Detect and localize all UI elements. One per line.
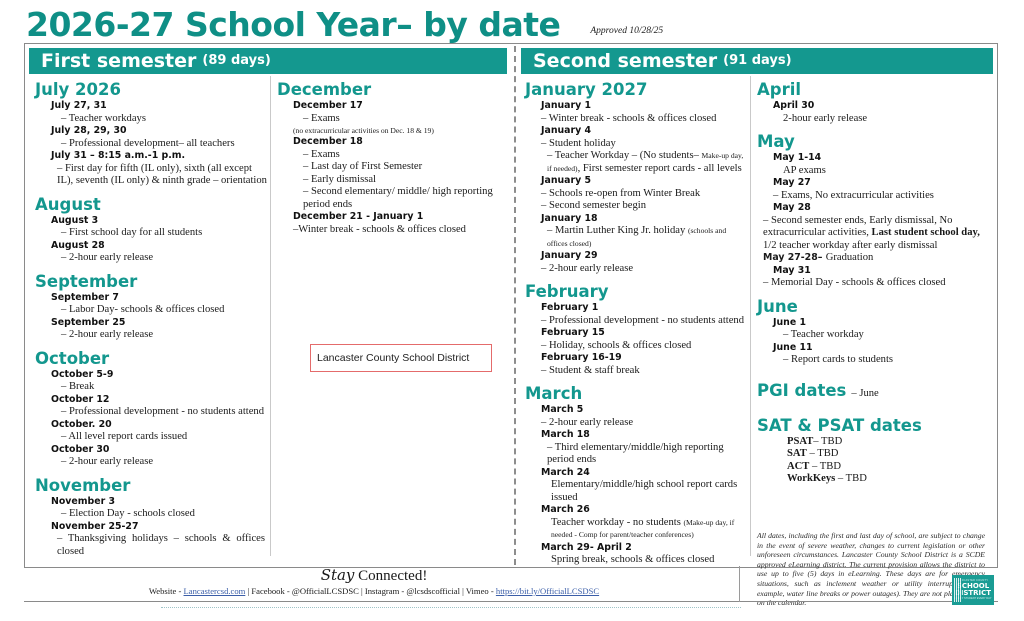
entry-desc: – Holiday, schools & offices closed bbox=[525, 340, 747, 353]
text-pre: Teacher workday - no students bbox=[551, 517, 684, 528]
entry-date: October 30 bbox=[35, 444, 267, 457]
entry-date: February 1 bbox=[525, 302, 747, 315]
entry-desc-graduation: May 27-28– Graduation bbox=[757, 252, 989, 265]
calendar-page: 2026-27 School Year– by date Approved 10… bbox=[0, 0, 1024, 621]
testing-value: – TBD bbox=[838, 473, 867, 484]
first-semester-label: First semester bbox=[41, 52, 196, 71]
testing-name: ACT bbox=[787, 461, 809, 472]
entry-date: December 18 bbox=[277, 136, 505, 149]
entry-desc: – Exams, No extracurricular activities bbox=[757, 190, 989, 203]
entry-date: March 24 bbox=[525, 467, 747, 480]
footer: Stay Connected! Website - Lancastercsd.c… bbox=[24, 566, 998, 602]
district-logo: LANCASTER COUNTY SCHOOL DISTRICT EVERY S… bbox=[952, 575, 994, 605]
entry-desc: – Second elementary/ middle/ high report… bbox=[277, 186, 505, 211]
entry-date: October 12 bbox=[35, 394, 267, 407]
pgi-value: – June bbox=[851, 384, 878, 404]
testing-name: SAT bbox=[787, 448, 807, 459]
entry-desc-mlk: – Martin Luther King Jr. holiday (school… bbox=[525, 225, 747, 250]
footer-vertical-rule bbox=[739, 566, 740, 602]
testing-heading: SAT & PSAT dates bbox=[757, 416, 989, 436]
entry-date: January 29 bbox=[525, 250, 747, 263]
entry-date: July 27, 31 bbox=[35, 100, 267, 113]
testing-name: WorkKeys bbox=[787, 473, 835, 484]
entry-desc-may28: – Second semester ends, Early dismissal,… bbox=[757, 215, 989, 253]
entry-date: September 7 bbox=[35, 292, 267, 305]
text-rest: Graduation bbox=[826, 252, 874, 263]
vimeo-link[interactable]: https://bit.ly/OfficialLCSDSC bbox=[496, 586, 599, 596]
entry-note: (no extracurricular activities on Dec. 1… bbox=[277, 125, 505, 136]
entry-date: July 28, 29, 30 bbox=[35, 125, 267, 138]
text-pre: – Teacher Workday – (No students– bbox=[547, 150, 702, 161]
month-heading-december: December bbox=[277, 80, 505, 100]
district-name-label: Lancaster County School District bbox=[317, 352, 469, 364]
entry-date: February 15 bbox=[525, 327, 747, 340]
calendar-frame: First semester (89 days) Second semester… bbox=[24, 43, 998, 568]
entry-date: August 3 bbox=[35, 215, 267, 228]
entry-desc: – Memorial Day - schools & offices close… bbox=[757, 277, 989, 290]
entry-desc: – 2-hour early release bbox=[35, 252, 267, 265]
entry-date: April 30 bbox=[757, 100, 989, 113]
second-semester-label: Second semester bbox=[533, 52, 717, 71]
entry-desc: – Teacher workday bbox=[757, 329, 989, 342]
entry-desc: – Schools re-open from Winter Break bbox=[525, 188, 747, 201]
entry-date: October 5-9 bbox=[35, 369, 267, 382]
month-heading-july: July 2026 bbox=[35, 80, 267, 100]
testing-row: ACT – TBD bbox=[771, 461, 989, 474]
entry-desc: –Winter break - schools & offices closed bbox=[277, 224, 505, 237]
entry-desc: – Exams bbox=[277, 149, 505, 162]
entry-desc: – Early dismissal bbox=[277, 174, 505, 187]
testing-row: SAT – TBD bbox=[771, 448, 989, 461]
testing-value: – TBD bbox=[809, 448, 838, 459]
entry-date: May 27 bbox=[757, 177, 989, 190]
month-heading-september: September bbox=[35, 272, 267, 292]
semester-divider bbox=[514, 46, 516, 565]
entry-date: January 18 bbox=[525, 213, 747, 226]
entry-date: March 5 bbox=[525, 404, 747, 417]
month-heading-may: May bbox=[757, 132, 989, 152]
entry-date: November 25-27 bbox=[35, 521, 267, 534]
entry-date: August 28 bbox=[35, 240, 267, 253]
month-heading-january: January 2027 bbox=[525, 80, 747, 100]
month-heading-march: March bbox=[525, 384, 747, 404]
entry-desc: – 2-hour early release bbox=[525, 417, 747, 430]
entry-desc: – Break bbox=[35, 381, 267, 394]
month-heading-april: April bbox=[757, 80, 989, 100]
social-links-row: Website - Lancastercsd.com | Facebook - … bbox=[24, 586, 724, 596]
entry-desc: – 2-hour early release bbox=[35, 456, 267, 469]
entry-date: January 5 bbox=[525, 175, 747, 188]
testing-value: – TBD bbox=[812, 461, 841, 472]
testing-row: PSAT– TBD bbox=[771, 436, 989, 449]
column-january-march: January 2027 January 1 – Winter break - … bbox=[525, 80, 747, 567]
connected-word: Connected! bbox=[354, 568, 427, 584]
entry-desc: – Election Day - schools closed bbox=[35, 508, 267, 521]
entry-date: November 3 bbox=[35, 496, 267, 509]
month-heading-february: February bbox=[525, 282, 747, 302]
entry-desc: – Student & staff break bbox=[525, 365, 747, 378]
entry-desc: 2-hour early release bbox=[757, 113, 989, 126]
month-heading-november: November bbox=[35, 476, 267, 496]
testing-name: PSAT bbox=[787, 436, 813, 447]
first-semester-header: First semester (89 days) bbox=[29, 48, 507, 74]
entry-desc-march26: Teacher workday - no students (Make-up d… bbox=[525, 517, 747, 542]
second-semester-days: (91 days) bbox=[723, 54, 791, 68]
entry-desc: – Thanksgiving holidays – schools & offi… bbox=[35, 533, 267, 558]
column-july-november: July 2026 July 27, 31 – Teacher workdays… bbox=[35, 80, 267, 558]
entry-desc-teacher-workday: – Teacher Workday – (No students– Make-u… bbox=[525, 150, 747, 175]
entry-date: January 4 bbox=[525, 125, 747, 138]
entry-date: May 28 bbox=[757, 202, 989, 215]
entry-desc: – Professional development - no students… bbox=[35, 406, 267, 419]
testing-value: – TBD bbox=[813, 436, 842, 447]
entry-date: September 25 bbox=[35, 317, 267, 330]
entry-desc: – Labor Day- schools & offices closed bbox=[35, 304, 267, 317]
text-pre: – Martin Luther King Jr. holiday bbox=[547, 225, 688, 236]
title-row: 2026-27 School Year– by date Approved 10… bbox=[26, 6, 996, 42]
logo-stripes-icon bbox=[954, 578, 962, 602]
entry-date: June 11 bbox=[757, 342, 989, 355]
approved-date: Approved 10/28/25 bbox=[590, 26, 663, 36]
text-bold: Last student school day, bbox=[872, 227, 980, 238]
second-semester-header: Second semester (91 days) bbox=[521, 48, 993, 74]
entry-desc: – Student holiday bbox=[525, 138, 747, 151]
column-april-june: April April 30 2-hour early release May … bbox=[757, 80, 989, 486]
page-title: 2026-27 School Year– by date bbox=[26, 8, 560, 42]
entry-desc: AP exams bbox=[757, 165, 989, 178]
entry-desc: – Report cards to students bbox=[757, 354, 989, 367]
entry-desc: – All level report cards issued bbox=[35, 431, 267, 444]
first-semester-days: (89 days) bbox=[202, 54, 270, 68]
entry-date: March 26 bbox=[525, 504, 747, 517]
column-rule-2 bbox=[750, 76, 751, 556]
entry-desc: – 2-hour early release bbox=[525, 263, 747, 276]
entry-date: October. 20 bbox=[35, 419, 267, 432]
pgi-heading: PGI dates bbox=[757, 381, 846, 401]
social-handles: | Facebook - @OfficialLCSDSC | Instagram… bbox=[245, 586, 496, 596]
entry-date: December 17 bbox=[277, 100, 505, 113]
text-post: 1/2 teacher workday after early dismissa… bbox=[763, 240, 937, 251]
entry-date: December 21 - January 1 bbox=[277, 211, 505, 224]
entry-date: July 31 – 8:15 a.m.-1 p.m. bbox=[35, 150, 267, 163]
entry-date: May 1-14 bbox=[757, 152, 989, 165]
entry-date: June 1 bbox=[757, 317, 989, 330]
entry-desc: – First day for fifth (IL only), sixth (… bbox=[35, 163, 267, 188]
month-heading-august: August bbox=[35, 195, 267, 215]
website-label: Website - bbox=[149, 586, 184, 596]
entry-desc: – 2-hour early release bbox=[35, 329, 267, 342]
stay-word: Stay bbox=[321, 566, 355, 584]
entry-date: May 31 bbox=[757, 265, 989, 278]
entry-desc: – Third elementary/middle/high reporting… bbox=[525, 442, 747, 467]
entry-desc: – Winter break - schools & offices close… bbox=[525, 113, 747, 126]
entry-desc: Elementary/middle/high school report car… bbox=[525, 479, 747, 504]
text-post: , First semester report cards - all leve… bbox=[578, 163, 742, 174]
entry-desc: – Last day of First Semester bbox=[277, 161, 505, 174]
entry-date: January 1 bbox=[525, 100, 747, 113]
text-bold-date: May 27-28– bbox=[763, 252, 826, 263]
entry-desc: – Professional development - no students… bbox=[525, 315, 747, 328]
entry-desc: Spring break, schools & offices closed bbox=[525, 554, 747, 567]
pgi-heading-row: PGI dates – June bbox=[757, 381, 989, 404]
entry-date: March 29- April 2 bbox=[525, 542, 747, 555]
column-december: December December 17 – Exams (no extracu… bbox=[277, 80, 505, 236]
entry-desc: – Exams bbox=[277, 113, 505, 126]
entry-desc: – Teacher workdays bbox=[35, 113, 267, 126]
footer-separator bbox=[161, 607, 741, 608]
entry-desc: – Second semester begin bbox=[525, 200, 747, 213]
district-name-box: Lancaster County School District bbox=[310, 344, 492, 372]
first-semester-bar: First semester (89 days) bbox=[29, 48, 507, 74]
column-rule-1 bbox=[270, 76, 271, 556]
testing-list: PSAT– TBD SAT – TBD ACT – TBD WorkKeys –… bbox=[757, 436, 989, 486]
entry-desc: – First school day for all students bbox=[35, 227, 267, 240]
stay-connected-heading: Stay Connected! bbox=[24, 566, 724, 585]
entry-date: February 16-19 bbox=[525, 352, 747, 365]
entry-date: March 18 bbox=[525, 429, 747, 442]
entry-desc: – Professional development– all teachers bbox=[35, 138, 267, 151]
website-link[interactable]: Lancastercsd.com bbox=[184, 586, 246, 596]
month-heading-june: June bbox=[757, 297, 989, 317]
month-heading-october: October bbox=[35, 349, 267, 369]
second-semester-bar: Second semester (91 days) bbox=[521, 48, 993, 74]
testing-row: WorkKeys – TBD bbox=[771, 473, 989, 486]
